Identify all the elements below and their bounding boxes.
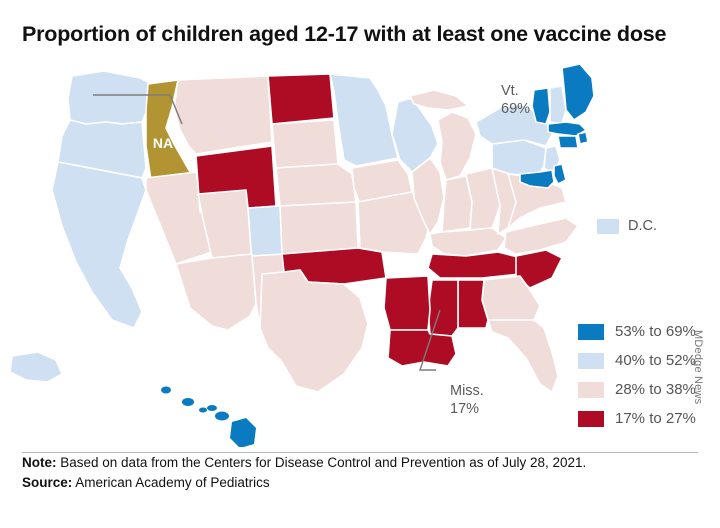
us-map-svg: NA [0, 62, 600, 447]
footer-source-text: American Academy of Pediatrics [72, 475, 269, 490]
footer-source-label: Source: [22, 475, 72, 490]
footer-note: Note: Based on data from the Centers for… [22, 455, 712, 470]
legend-swatch-1 [578, 353, 604, 369]
footer-source: Source: American Academy of Pediatrics [22, 475, 712, 490]
state-VT[interactable] [532, 88, 550, 124]
state-NC[interactable] [504, 218, 578, 254]
state-label-idaho: NA [153, 135, 173, 151]
state-NE[interactable] [276, 164, 356, 206]
legend-item-1[interactable]: 40% to 52% [578, 349, 698, 372]
state-SD[interactable] [272, 120, 338, 168]
infographic-page: Proportion of children aged 12-17 with a… [0, 0, 720, 528]
state-ND[interactable] [268, 74, 334, 124]
state-TX[interactable] [260, 270, 368, 392]
legend-item-2[interactable]: 28% to 38% [578, 378, 698, 401]
state-MS[interactable] [428, 280, 458, 336]
footer: Note: Based on data from the Centers for… [22, 455, 712, 490]
state-CT[interactable] [558, 136, 578, 148]
callout-vermont-name: Vt. [501, 82, 530, 100]
callout-vermont: Vt. 69% [501, 82, 530, 118]
state-DE[interactable] [554, 164, 566, 184]
state-RI[interactable] [578, 132, 588, 144]
state-PA[interactable] [492, 140, 546, 176]
callout-vermont-value: 69% [501, 100, 530, 118]
state-MI[interactable] [438, 112, 476, 180]
callout-mississippi-value: 17% [450, 400, 484, 418]
state-WA[interactable] [68, 71, 152, 124]
legend-item-0[interactable]: 53% to 69% [578, 320, 698, 343]
footer-divider [22, 452, 698, 453]
footer-note-label: Note: [22, 455, 57, 470]
dc-label: D.C. [628, 218, 657, 234]
state-AL[interactable] [458, 280, 488, 328]
state-ME[interactable] [562, 64, 594, 120]
state-TN[interactable] [428, 252, 522, 278]
dc-key: D.C. [597, 218, 657, 234]
legend-label-3: 17% to 27% [615, 410, 696, 427]
legend-label-1: 40% to 52% [615, 352, 696, 369]
state-MT[interactable] [174, 76, 272, 154]
legend-label-2: 28% to 38% [615, 381, 696, 398]
legend: 53% to 69% 40% to 52% 28% to 38% 17% to … [578, 320, 698, 436]
state-CA[interactable] [52, 162, 146, 328]
state-AR[interactable] [384, 276, 430, 330]
state-LA[interactable] [388, 330, 456, 366]
page-title: Proportion of children aged 12-17 with a… [22, 22, 712, 47]
publisher-credit: MDedge News [692, 330, 704, 404]
state-MN[interactable] [330, 74, 398, 166]
state-FL[interactable] [488, 320, 558, 392]
callout-mississippi: Miss. 17% [450, 382, 484, 418]
footer-note-text: Based on data from the Centers for Disea… [57, 455, 587, 470]
state-AZ[interactable] [176, 254, 256, 330]
choropleth-map: NA [0, 62, 600, 447]
state-HI[interactable] [161, 387, 256, 448]
legend-item-3[interactable]: 17% to 27% [578, 407, 698, 430]
callout-mississippi-name: Miss. [450, 382, 484, 400]
legend-label-0: 53% to 69% [615, 323, 696, 340]
dc-swatch [597, 219, 619, 234]
legend-swatch-2 [578, 382, 604, 398]
legend-swatch-0 [578, 324, 604, 340]
state-AK[interactable] [10, 352, 62, 382]
legend-swatch-3 [578, 411, 604, 427]
state-KS[interactable] [280, 202, 358, 254]
